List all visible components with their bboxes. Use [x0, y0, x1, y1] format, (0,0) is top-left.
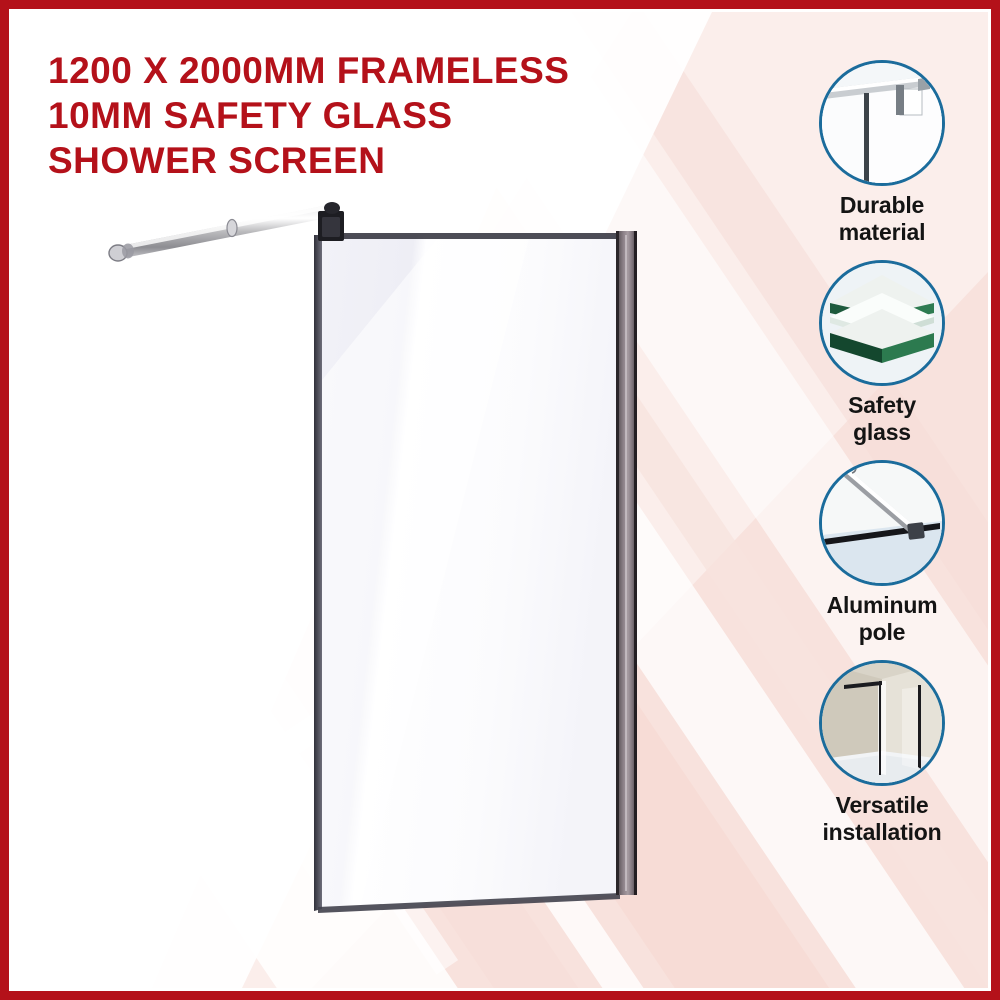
product-banner: 1200 X 2000MM FRAMELESS 10MM SAFETY GLAS… — [0, 0, 1000, 1000]
feature-label-line-2: pole — [782, 619, 982, 646]
glass-panel — [314, 233, 620, 913]
glass-layers-svg — [822, 263, 942, 383]
feature-label: Durable material — [782, 192, 982, 246]
shower-bracket-photo-icon — [819, 60, 945, 186]
feature-durable-material[interactable]: Durable material — [782, 60, 982, 246]
feature-label: Safety glass — [782, 392, 982, 446]
feature-label-line-1: Durable — [782, 192, 982, 219]
wall-profile — [616, 231, 637, 895]
feature-label-line-1: Aluminum — [782, 592, 982, 619]
page-title: 1200 X 2000MM FRAMELESS 10MM SAFETY GLAS… — [48, 48, 668, 183]
feature-label-line-2: material — [782, 219, 982, 246]
feature-list: Durable material — [782, 60, 982, 860]
feature-safety-glass[interactable]: Safety glass — [782, 260, 982, 446]
feature-label: Aluminum pole — [782, 592, 982, 646]
diagonal-support-pole-icon — [819, 460, 945, 586]
feature-label-line-1: Versatile — [782, 792, 982, 819]
laminated-glass-layers-icon — [819, 260, 945, 386]
feature-label: Versatile installation — [782, 792, 982, 846]
title-line-2: 10MM SAFETY GLASS — [48, 93, 668, 138]
feature-label-line-2: installation — [782, 819, 982, 846]
shower-enclosure-corner-icon — [819, 660, 945, 786]
feature-label-line-1: Safety — [782, 392, 982, 419]
feature-label-line-2: glass — [782, 419, 982, 446]
support-pole-svg — [822, 463, 942, 583]
bracket-photo-svg — [822, 63, 942, 183]
title-line-3: SHOWER SCREEN — [48, 138, 668, 183]
shower-screen-illustration — [60, 195, 740, 955]
feature-aluminum-pole[interactable]: Aluminum pole — [782, 460, 982, 646]
feature-versatile-installation[interactable]: Versatile installation — [782, 660, 982, 846]
title-line-1: 1200 X 2000MM FRAMELESS — [48, 48, 668, 93]
product-image — [60, 195, 740, 955]
support-pole — [109, 205, 332, 261]
enclosure-corner-svg — [822, 663, 942, 783]
